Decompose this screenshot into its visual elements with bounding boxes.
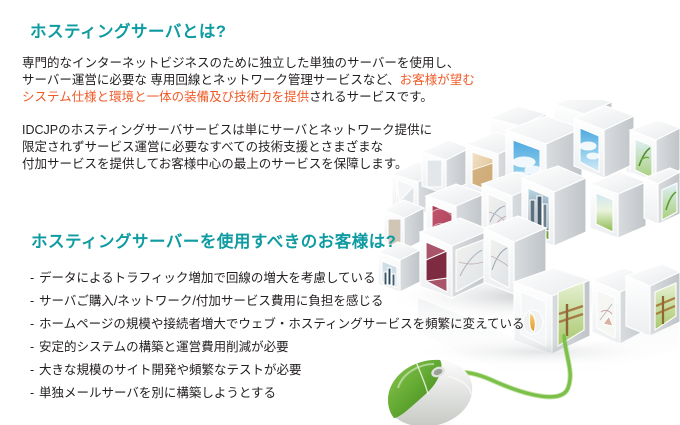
cube-panel-sketch bbox=[592, 268, 650, 344]
list-item-label: 大きな規模のサイト開発や頻繁なテストが必要 bbox=[39, 363, 302, 377]
cube-panel-city bbox=[522, 166, 586, 246]
bullet-marker: - bbox=[30, 337, 39, 357]
paragraph-1-line-2-highlight: お客様が望む bbox=[400, 73, 475, 87]
cube-panel-leaf bbox=[630, 120, 680, 182]
bullet-marker: - bbox=[30, 383, 39, 403]
section-one-heading: ホスティングサーバとは? bbox=[30, 18, 226, 42]
paragraph-1-line-3: システム仕様と環境と一体の装備及び技術力を提供されるサービスです。 bbox=[22, 89, 475, 106]
bullet-marker: - bbox=[30, 314, 39, 334]
paragraph-2-line-3: 付加サービスを提供してお客様中心の最上のサービスを保障します。 bbox=[22, 156, 432, 173]
bullet-marker: - bbox=[30, 268, 39, 288]
cube-panel-leaf-2 bbox=[644, 168, 680, 224]
customer-type-list: -データによるトラフィック増加で回線の増大を考慮している -サーバご購入/ネット… bbox=[30, 268, 525, 406]
cube-panel-sky bbox=[506, 116, 582, 204]
cube-panel-sky-2 bbox=[574, 106, 634, 178]
list-item-label: データによるトラフィック増加で回線の増大を考慮している bbox=[39, 271, 376, 285]
cube-panel-grass bbox=[554, 282, 590, 352]
page-root: ホスティングサーバとは? 専門的なインターネットビジネスのために独立した単独のサ… bbox=[0, 0, 680, 425]
paragraph-1-line-1-text: 専門的なインターネットビジネスのために独立した単独のサーバーを使用し、 bbox=[22, 56, 459, 70]
cube-panel-amber-grass bbox=[514, 268, 590, 354]
cube-panel-map bbox=[482, 172, 544, 244]
list-item: -サーバご購入/ネットワーク/付加サービス費用に負担を感じる bbox=[30, 291, 525, 311]
bullet-marker: - bbox=[30, 360, 39, 380]
list-item: -単独メールサーバを別に構築しようとする bbox=[30, 383, 525, 403]
list-item-label: ホームページの規模や接続者増大でウェブ・ホスティングサービスを頻繁に変えている bbox=[39, 317, 525, 331]
paragraph-2-line-1: IDCJPのホスティングサーバサービスは単にサーバとネットワーク提供に bbox=[22, 122, 432, 139]
list-item-label: 単独メールサーバを別に構築しようとする bbox=[39, 386, 276, 400]
section-one-paragraph-1: 専門的なインターネットビジネスのために独立した単独のサーバーを使用し、 サーバー… bbox=[22, 55, 475, 106]
cube-panel-field bbox=[590, 172, 646, 238]
paragraph-1-line-2: サーバー運営に必要な 専用回線とネットワーク管理サービスなど、お客様が望む bbox=[22, 72, 475, 89]
list-item: -ホームページの規模や接続者増大でウェブ・ホスティングサービスを頻繁に変えている bbox=[30, 314, 525, 334]
cube-panel-fence bbox=[626, 264, 680, 336]
list-item: -安定的システムの構築と運営費用削減が必要 bbox=[30, 337, 525, 357]
paragraph-1-line-3-text: されるサービスです。 bbox=[309, 90, 433, 104]
cube-panel-red bbox=[426, 184, 484, 252]
list-item: -データによるトラフィック増加で回線の増大を考慮している bbox=[30, 268, 525, 288]
paragraph-2-line-2: 限定されずサービス運営に必要なすべての技術支援とさまざまな bbox=[22, 139, 432, 156]
list-item-label: サーバご購入/ネットワーク/付加サービス費用に負担を感じる bbox=[39, 294, 383, 308]
list-item: -大きな規模のサイト開発や頻繁なテストが必要 bbox=[30, 360, 525, 380]
paragraph-1-line-2-text: サーバー運営に必要な 専用回線とネットワーク管理サービスなど、 bbox=[22, 73, 400, 87]
section-two-heading: ホスティングサーバーを使用すべきのお客様は? bbox=[31, 228, 396, 252]
section-one-paragraph-2: IDCJPのホスティングサーバサービスは単にサーバとネットワーク提供に 限定され… bbox=[22, 122, 432, 173]
paragraph-1-line-3-highlight: システム仕様と環境と一体の装備及び技術力を提供 bbox=[22, 90, 309, 104]
paragraph-1-line-1: 専門的なインターネットビジネスのために独立した単独のサーバーを使用し、 bbox=[22, 55, 475, 72]
cube-panel-sand bbox=[466, 132, 526, 198]
bullet-marker: - bbox=[30, 291, 39, 311]
list-item-label: 安定的システムの構築と運営費用削減が必要 bbox=[39, 340, 289, 354]
